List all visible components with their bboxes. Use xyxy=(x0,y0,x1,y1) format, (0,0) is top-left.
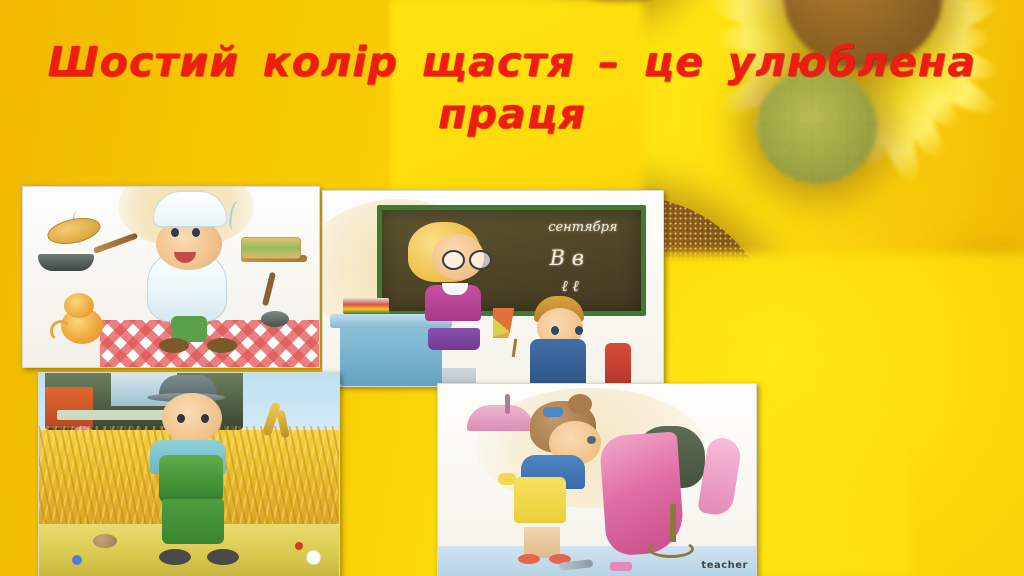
eyeglasses-right xyxy=(469,250,492,270)
page-title: Шостий колір щастя – це улюблена праця xyxy=(0,36,1024,140)
farmer-shoe-right xyxy=(207,549,239,565)
dress-form-base xyxy=(648,540,694,558)
dress-form-stand xyxy=(670,504,676,543)
hair-bun xyxy=(568,394,592,414)
hair-bow xyxy=(543,407,563,417)
daisy xyxy=(306,550,321,565)
shoe-left xyxy=(518,554,540,564)
blackboard-letters: В в xyxy=(550,246,584,270)
blackboard-strokes: ℓ ℓ xyxy=(562,277,579,296)
image-watermark: teacher xyxy=(701,560,748,571)
chef-shoe-right xyxy=(207,338,237,353)
cook-illustration xyxy=(22,186,320,368)
teacher-desk xyxy=(340,320,442,386)
yellow-apron xyxy=(514,477,566,523)
teacher-illustration: сентября В в ℓ ℓ xyxy=(322,190,664,387)
eyeglasses-left xyxy=(442,250,465,270)
green-overalls xyxy=(159,455,223,503)
boy-eye-left xyxy=(551,326,559,335)
farmer-eye-left xyxy=(177,414,185,423)
book-stack xyxy=(343,298,389,314)
umbrella-handle xyxy=(505,394,510,414)
teacher-skirt xyxy=(428,328,480,350)
boy-eye-right xyxy=(575,326,583,335)
cat-tail xyxy=(50,320,72,342)
cornflower xyxy=(72,555,82,565)
farmer-shoe-left xyxy=(159,549,191,565)
red-backpack xyxy=(605,343,631,386)
pink-scrap xyxy=(610,562,632,571)
seamstress-illustration: teacher xyxy=(437,383,757,576)
blackboard-date: сентября xyxy=(548,220,617,235)
apron-tie xyxy=(498,473,516,485)
harvester-body xyxy=(45,387,93,428)
presentation-slide: Шостий колір щастя – це улюблена праця xyxy=(0,0,1024,576)
farmer-eye-right xyxy=(201,414,209,423)
chef-shoe-left xyxy=(159,338,189,353)
overalls-legs xyxy=(162,499,224,544)
boy-shirt xyxy=(530,339,586,386)
chef-hat xyxy=(153,191,227,227)
sandwich xyxy=(241,237,301,259)
frying-pan xyxy=(38,254,94,271)
teacher-collar xyxy=(442,283,468,295)
autumn-leaves xyxy=(493,308,527,338)
farmer-illustration xyxy=(38,372,340,576)
pink-umbrella xyxy=(467,405,533,431)
